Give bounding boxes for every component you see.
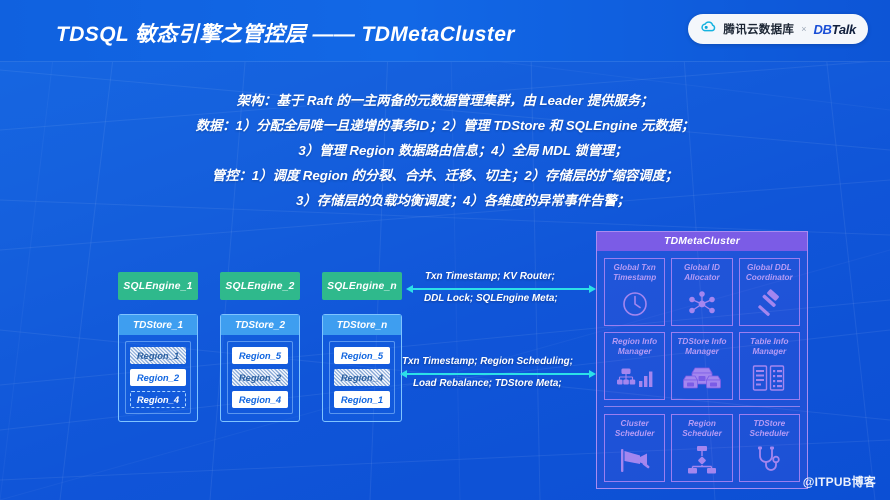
cell-label: TDStore Scheduler [750, 419, 790, 439]
cell-global-id-allocator[interactable]: Global ID Allocator [671, 258, 732, 326]
arrow-label-top-above: Txn Timestamp; KV Router; [425, 271, 555, 282]
cell-label: Table Info Manager [750, 337, 788, 357]
logo-dbtalk: DBTalk [813, 22, 856, 37]
cell-label: Global Txn Timestamp [613, 263, 656, 283]
node-network-icon [686, 283, 718, 325]
meta-row-3: Cluster Scheduler Region S [604, 406, 800, 482]
tencent-cloud-icon [700, 20, 716, 39]
sqlengine-box-2[interactable]: SQLEngine_2 [220, 272, 300, 300]
arrow-label-top-below: DDL Lock; SQLEngine Meta; [424, 293, 558, 304]
logo-separator: × [801, 24, 806, 34]
cell-label: Region Info Manager [612, 337, 657, 357]
tdstore-box-n[interactable]: TDStore_n Region_5 Region_4 Region_1 [322, 314, 402, 422]
arrow-head-left [400, 370, 407, 378]
region-item[interactable]: Region_5 [334, 347, 390, 364]
logo-db-text: DB [813, 22, 831, 37]
meta-row-1: Global Txn Timestamp Global ID Allocator [604, 258, 800, 326]
cell-label: Cluster Scheduler [615, 419, 655, 439]
sqlengine-box-1[interactable]: SQLEngine_1 [118, 272, 198, 300]
clock-icon [620, 283, 650, 325]
description-line-2: 数据：1）分配全局唯一且递增的事务ID；2）管理 TDStore 和 SQLEn… [0, 113, 890, 138]
region-item[interactable]: Region_4 [232, 391, 288, 408]
slide-root: TDSQL 敏态引擎之管控层 —— TDMetaCluster 腾讯云数据库 ×… [0, 0, 890, 500]
cell-label: Global DDL Coordinator [746, 263, 793, 283]
cell-table-info-manager[interactable]: Table Info Manager [739, 332, 800, 400]
cell-global-ddl-coordinator[interactable]: Global DDL Coordinator [739, 258, 800, 326]
description-block: 架构：基于 Raft 的一主两备的元数据管理集群，由 Leader 提供服务； … [0, 88, 890, 213]
arrow-head-right [589, 370, 596, 378]
region-item[interactable]: Region_2 [232, 369, 288, 386]
region-item[interactable]: Region_5 [232, 347, 288, 364]
region-item[interactable]: Region_2 [130, 369, 186, 386]
region-item[interactable]: Region_1 [334, 391, 390, 408]
org-chart-bar-icon [617, 357, 653, 399]
cluster-columns: SQLEngine_1 TDStore_1 Region_1 Region_2 … [118, 272, 408, 440]
cell-region-info-manager[interactable]: Region Info Manager [604, 332, 665, 400]
tdstore-header-n: TDStore_n [323, 315, 401, 335]
cell-global-txn-timestamp[interactable]: Global Txn Timestamp [604, 258, 665, 326]
description-line-4: 管控：1）调度 Region 的分裂、合并、迁移、切主；2）存储层的扩缩容调度； [0, 163, 890, 188]
arrow-label-bottom-below: Load Rebalance; TDStore Meta; [413, 378, 562, 389]
database-cluster-icon [683, 357, 721, 399]
flag-camera-icon [618, 439, 652, 481]
cell-tdstore-scheduler[interactable]: TDStore Scheduler [739, 414, 800, 482]
cell-tdstore-info-manager[interactable]: TDStore Info Manager [671, 332, 732, 400]
arrow-head-left [406, 285, 413, 293]
arrow-line [407, 373, 589, 375]
region-list-n: Region_5 Region_4 Region_1 [329, 341, 395, 414]
description-line-1: 架构：基于 Raft 的一主两备的元数据管理集群，由 Leader 提供服务； [0, 88, 890, 113]
tdmetacluster-title: TDMetaCluster [597, 232, 807, 251]
tdmetacluster-body: Global Txn Timestamp Global ID Allocator [597, 251, 807, 494]
arrow-label-bottom-above: Txn Timestamp; Region Scheduling; [402, 356, 573, 367]
tdstore-box-1[interactable]: TDStore_1 Region_1 Region_2 Region_4 [118, 314, 198, 422]
logo-brand-cn: 腾讯云数据库 [723, 21, 794, 37]
cluster-column-3: SQLEngine_n TDStore_n Region_5 Region_4 … [322, 272, 402, 300]
cluster-column-1: SQLEngine_1 TDStore_1 Region_1 Region_2 … [118, 272, 198, 300]
arrow-head-right [589, 285, 596, 293]
tdstore-header-1: TDStore_1 [119, 315, 197, 335]
cell-label: Region Scheduler [682, 419, 722, 439]
arrow-line [413, 288, 589, 290]
meta-row-2: Region Info Manager [604, 332, 800, 400]
document-list-icon [752, 357, 786, 399]
hierarchy-icon [686, 439, 718, 481]
description-line-5: 3）存储层的负载均衡调度；4）各维度的异常事件告警； [0, 188, 890, 213]
cell-label: Global ID Allocator [684, 263, 720, 283]
region-list-2: Region_5 Region_2 Region_4 [227, 341, 293, 414]
watermark: @ITPUB博客 [803, 473, 876, 490]
region-item[interactable]: Region_4 [334, 369, 390, 386]
region-list-1: Region_1 Region_2 Region_4 [125, 341, 191, 414]
stethoscope-icon [754, 439, 784, 481]
tdmetacluster-panel[interactable]: TDMetaCluster Global Txn Timestamp Globa… [596, 231, 808, 489]
gavel-icon [753, 283, 785, 325]
tdstore-box-2[interactable]: TDStore_2 Region_5 Region_2 Region_4 [220, 314, 300, 422]
cell-cluster-scheduler[interactable]: Cluster Scheduler [604, 414, 665, 482]
brand-logo: 腾讯云数据库 × DBTalk [688, 14, 868, 44]
region-item[interactable]: Region_1 [130, 347, 186, 364]
description-line-3: 3）管理 Region 数据路由信息；4）全局 MDL 锁管理； [0, 138, 890, 163]
cell-label: TDStore Info Manager [677, 337, 726, 357]
page-title: TDSQL 敏态引擎之管控层 —— TDMetaCluster [56, 18, 515, 48]
logo-talk-text: Talk [832, 22, 856, 37]
cell-region-scheduler[interactable]: Region Scheduler [671, 414, 732, 482]
tdstore-header-2: TDStore_2 [221, 315, 299, 335]
cluster-column-2: SQLEngine_2 TDStore_2 Region_5 Region_2 … [220, 272, 300, 300]
sqlengine-box-n[interactable]: SQLEngine_n [322, 272, 402, 300]
region-item[interactable]: Region_4 [130, 391, 186, 408]
